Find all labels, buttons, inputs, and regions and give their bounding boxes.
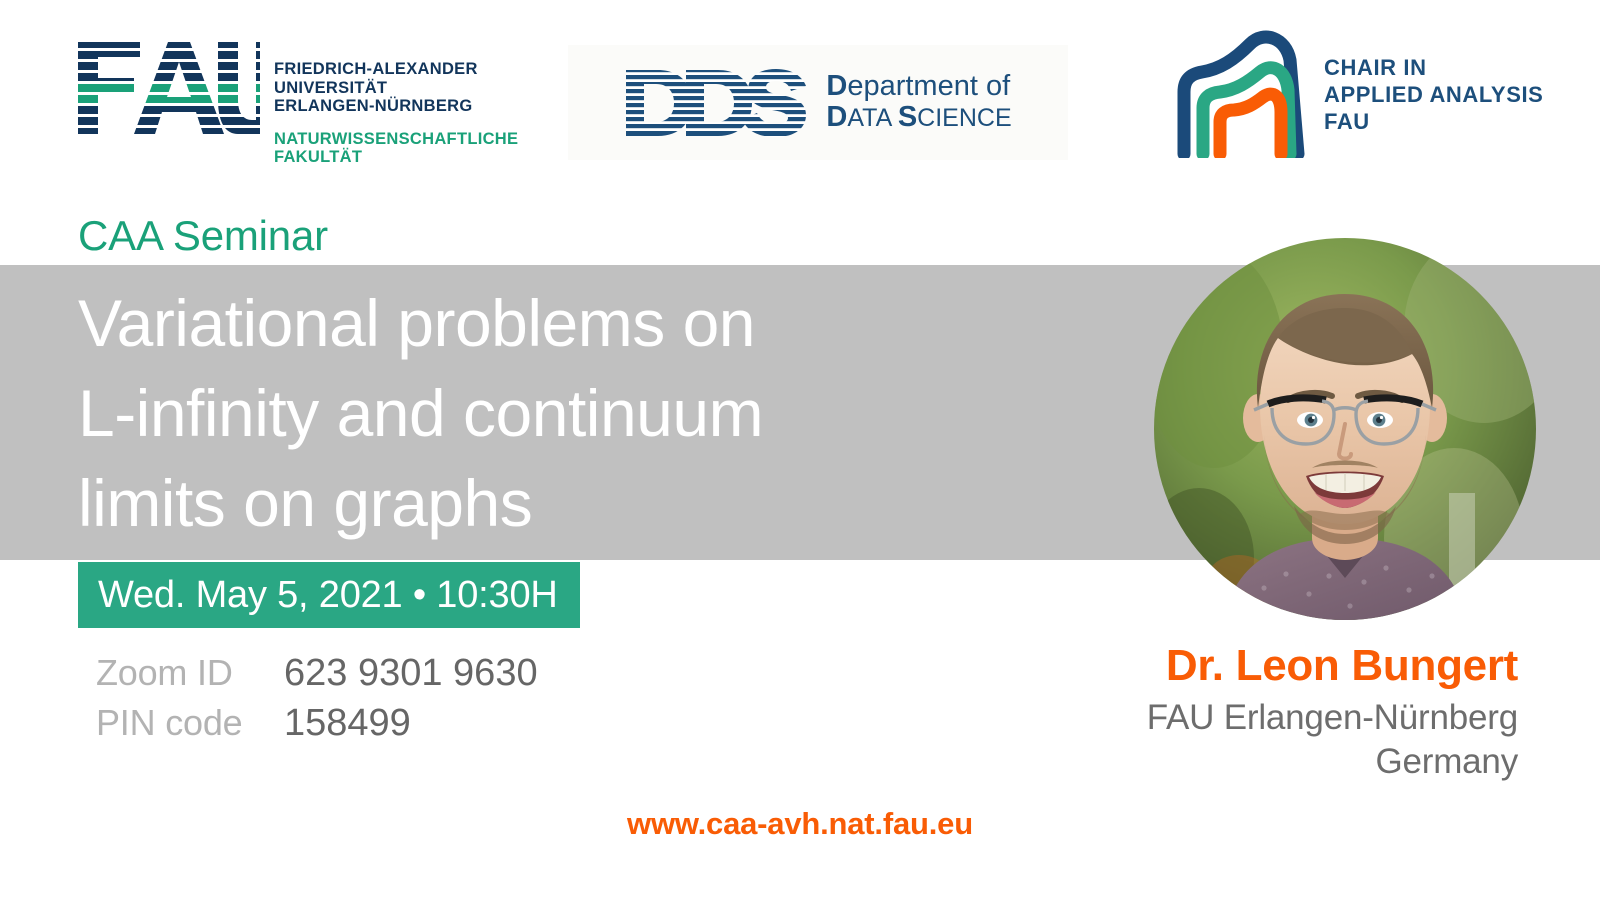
fau-name-line-2: UNIVERSITÄT	[274, 79, 518, 98]
dds-line-1-rest: epartment of	[847, 70, 1010, 102]
dds-line-2-cience: CIENCE	[917, 104, 1011, 132]
dds-logo: Department of DATA SCIENCE	[568, 45, 1068, 160]
caa-line-1: CHAIR IN	[1324, 54, 1543, 81]
talk-title-line-1: Variational problems on	[78, 278, 1038, 368]
pin-code-label: PIN code	[96, 702, 284, 744]
talk-title-line-3: limits on graphs	[78, 458, 1038, 548]
zoom-id-row: Zoom ID 623 9301 9630	[96, 652, 538, 702]
dds-line-2: DATA SCIENCE	[826, 102, 1011, 134]
zoom-id-label: Zoom ID	[96, 652, 284, 694]
caa-line-3: FAU	[1324, 108, 1543, 135]
dds-logo-inner: Department of DATA SCIENCE	[624, 68, 1011, 138]
speaker-name: Dr. Leon Bungert	[1147, 640, 1518, 692]
caa-chair-logo: CHAIR IN APPLIED ANALYSIS FAU	[1168, 30, 1543, 158]
website-url[interactable]: www.caa-avh.nat.fau.eu	[0, 806, 1600, 842]
portrait-illustration	[1154, 238, 1536, 620]
dds-wordmark: Department of DATA SCIENCE	[826, 71, 1011, 134]
fau-faculty-line-1: NATURWISSENSCHAFTLICHE	[274, 130, 518, 149]
date-time-banner: Wed. May 5, 2021 • 10:30H	[78, 562, 580, 628]
dds-line-2-ata: ATA	[847, 104, 897, 132]
seminar-poster: FRIEDRICH-ALEXANDER UNIVERSITÄT ERLANGEN…	[0, 0, 1600, 900]
dds-line-2-initial-s: S	[898, 101, 917, 133]
speaker-affiliation: FAU Erlangen-Nürnberg	[1147, 696, 1518, 740]
fau-logo: FRIEDRICH-ALEXANDER UNIVERSITÄT ERLANGEN…	[74, 38, 518, 167]
caa-line-2: APPLIED ANALYSIS	[1324, 81, 1543, 108]
fau-name-line-3: ERLANGEN-NÜRNBERG	[274, 97, 518, 116]
header-logo-bar: FRIEDRICH-ALEXANDER UNIVERSITÄT ERLANGEN…	[0, 0, 1600, 190]
seminar-series-label: CAA Seminar	[78, 212, 328, 260]
pin-code-row: PIN code 158499	[96, 702, 538, 752]
speaker-country: Germany	[1147, 740, 1518, 784]
dds-line-1-initial: D	[826, 70, 847, 102]
talk-title: Variational problems on L-infinity and c…	[78, 278, 1038, 548]
pin-code-value: 158499	[284, 702, 411, 745]
dds-striped-mark-icon	[624, 68, 810, 138]
fau-name-line-1: FRIEDRICH-ALEXANDER	[274, 60, 518, 79]
speaker-portrait-photo	[1154, 238, 1536, 620]
fau-faculty-line-2: FAKULTÄT	[274, 148, 518, 167]
talk-title-line-2: L-infinity and continuum	[78, 368, 1038, 458]
dds-line-1: Department of	[826, 71, 1011, 102]
caa-wordmark: CHAIR IN APPLIED ANALYSIS FAU	[1324, 54, 1543, 135]
date-time-text: Wed. May 5, 2021 • 10:30H	[98, 574, 558, 617]
fau-wordmark: FRIEDRICH-ALEXANDER UNIVERSITÄT ERLANGEN…	[274, 60, 518, 167]
caa-arcs-icon	[1168, 30, 1308, 158]
connection-details: Zoom ID 623 9301 9630 PIN code 158499	[96, 652, 538, 752]
fau-striped-mark-icon	[74, 38, 260, 138]
dds-line-2-initial-d: D	[826, 101, 847, 133]
zoom-id-value: 623 9301 9630	[284, 652, 538, 695]
speaker-info: Dr. Leon Bungert FAU Erlangen-Nürnberg G…	[1147, 640, 1518, 784]
